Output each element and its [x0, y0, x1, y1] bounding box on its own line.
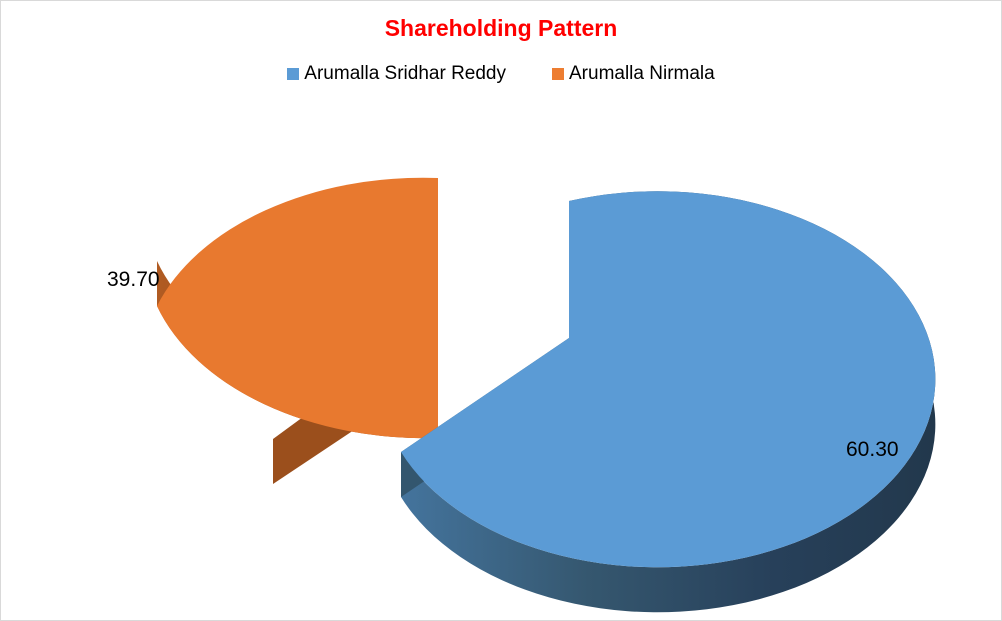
- pie-slice-blue-3d[interactable]: [401, 191, 935, 612]
- data-label-blue: 60.30: [846, 438, 899, 461]
- data-label-orange: 39.70: [107, 268, 160, 291]
- pie-chart-graphic: 39.70 60.30: [1, 1, 1001, 620]
- chart-container: Shareholding Pattern Arumalla Sridhar Re…: [0, 0, 1002, 621]
- orange-slice-top: [157, 178, 438, 438]
- blue-slice-top: [401, 191, 935, 567]
- pie-slice-orange-3d[interactable]: [157, 178, 438, 484]
